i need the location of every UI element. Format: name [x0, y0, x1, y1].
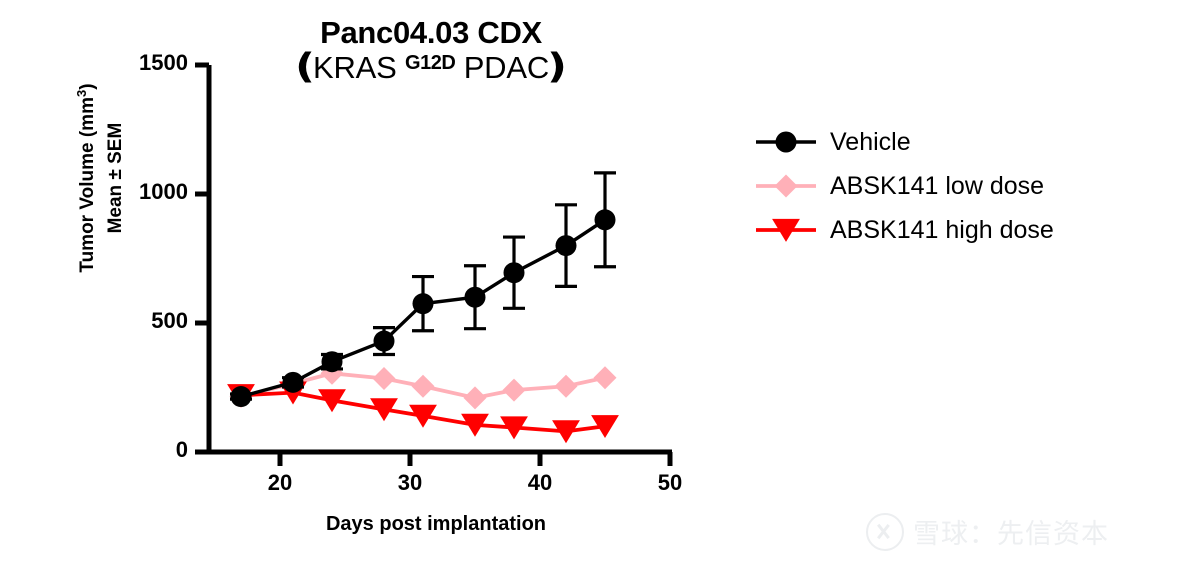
data-point-marker [412, 375, 435, 398]
data-point-marker [503, 379, 526, 402]
legend-item-absk141-high-dose[interactable]: ABSK141 high dose [752, 208, 1054, 252]
data-point-marker [283, 372, 304, 393]
xueqiu-logo-icon [866, 513, 904, 551]
data-point-marker [555, 375, 578, 398]
legend-marker-icon [752, 171, 820, 201]
legend-item-absk141-low-dose[interactable]: ABSK141 low dose [752, 164, 1054, 208]
legend-key-circle-icon [752, 127, 820, 157]
data-point-marker [595, 209, 616, 230]
legend-key-diamond-icon [752, 171, 820, 201]
data-point-marker [556, 235, 577, 256]
data-point-marker [413, 293, 434, 314]
data-point-marker [464, 386, 487, 409]
legend-label: Vehicle [820, 128, 911, 157]
data-point-marker [776, 132, 797, 153]
chart-figure: Panc04.03 CDX (KRAS G12D PDAC) Tumor Vol… [0, 0, 1186, 576]
data-point-marker [775, 175, 798, 198]
chart-legend: VehicleABSK141 low doseABSK141 high dose [752, 120, 1054, 252]
legend-key-triangle-down-icon [752, 215, 820, 245]
plot-area [0, 0, 1186, 576]
data-point-marker [373, 367, 396, 390]
data-point-marker [322, 351, 343, 372]
data-point-marker [374, 331, 395, 352]
legend-item-vehicle[interactable]: Vehicle [752, 120, 1054, 164]
legend-marker-icon [752, 127, 820, 157]
legend-label: ABSK141 low dose [820, 172, 1044, 201]
data-point-marker [594, 366, 617, 389]
data-point-marker [231, 386, 252, 407]
data-point-marker [504, 262, 525, 283]
watermark-text: 雪球：先信资本 [913, 512, 1109, 551]
series-vehicle [230, 173, 616, 407]
data-point-marker [465, 287, 486, 308]
watermark: 雪球：先信资本 [866, 512, 1109, 551]
legend-marker-icon [752, 215, 820, 245]
legend-label: ABSK141 high dose [820, 216, 1054, 245]
